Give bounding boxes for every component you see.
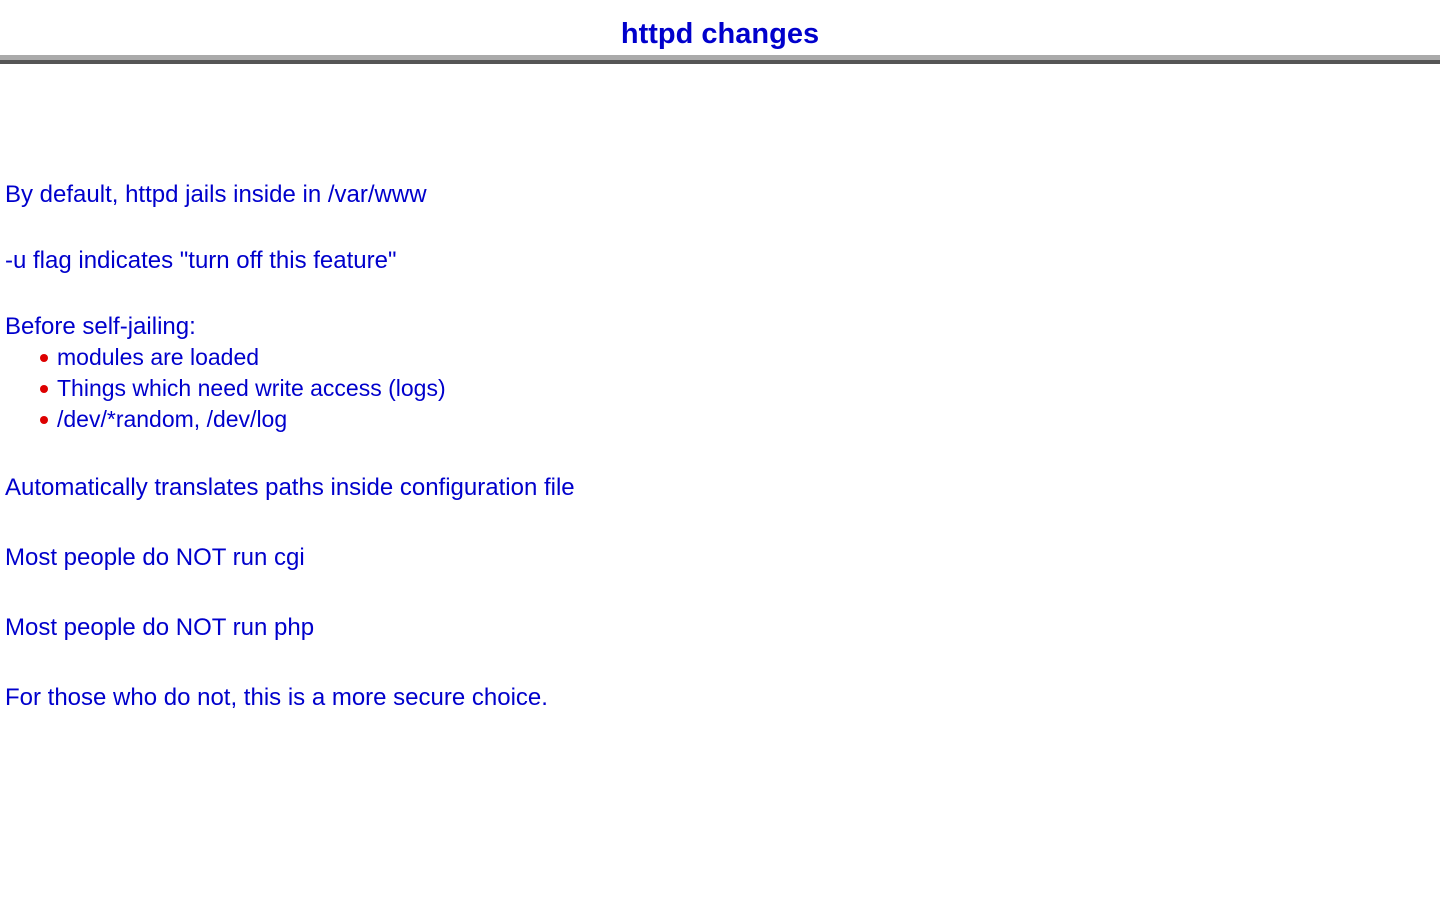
body-paragraph-2: -u flag indicates "turn off this feature… (5, 247, 396, 275)
list-item: /dev/*random, /dev/log (0, 404, 446, 435)
body-paragraph-4: Automatically translates paths inside co… (5, 474, 575, 502)
body-paragraph-6: Most people do NOT run php (5, 614, 314, 642)
page-title: httpd changes (0, 16, 1440, 52)
slide: httpd changes By default, httpd jails in… (0, 0, 1440, 900)
list-item: Things which need write access (logs) (0, 373, 446, 404)
bullet-dot-icon (40, 416, 48, 424)
bullet-dot-icon (40, 354, 48, 362)
body-paragraph-7: For those who do not, this is a more sec… (5, 684, 548, 712)
body-paragraph-5: Most people do NOT run cgi (5, 544, 305, 572)
list-item-label: Things which need write access (logs) (57, 375, 446, 401)
title-divider-rule (0, 55, 1440, 64)
bullet-dot-icon (40, 385, 48, 393)
body-paragraph-1: By default, httpd jails inside in /var/w… (5, 181, 427, 209)
list-item-label: modules are loaded (57, 344, 259, 370)
bullet-list: modules are loaded Things which need wri… (0, 342, 446, 435)
body-paragraph-3: Before self-jailing: (5, 313, 196, 341)
divider-dark-band (0, 60, 1440, 64)
list-item: modules are loaded (0, 342, 446, 373)
list-item-label: /dev/*random, /dev/log (57, 406, 287, 432)
